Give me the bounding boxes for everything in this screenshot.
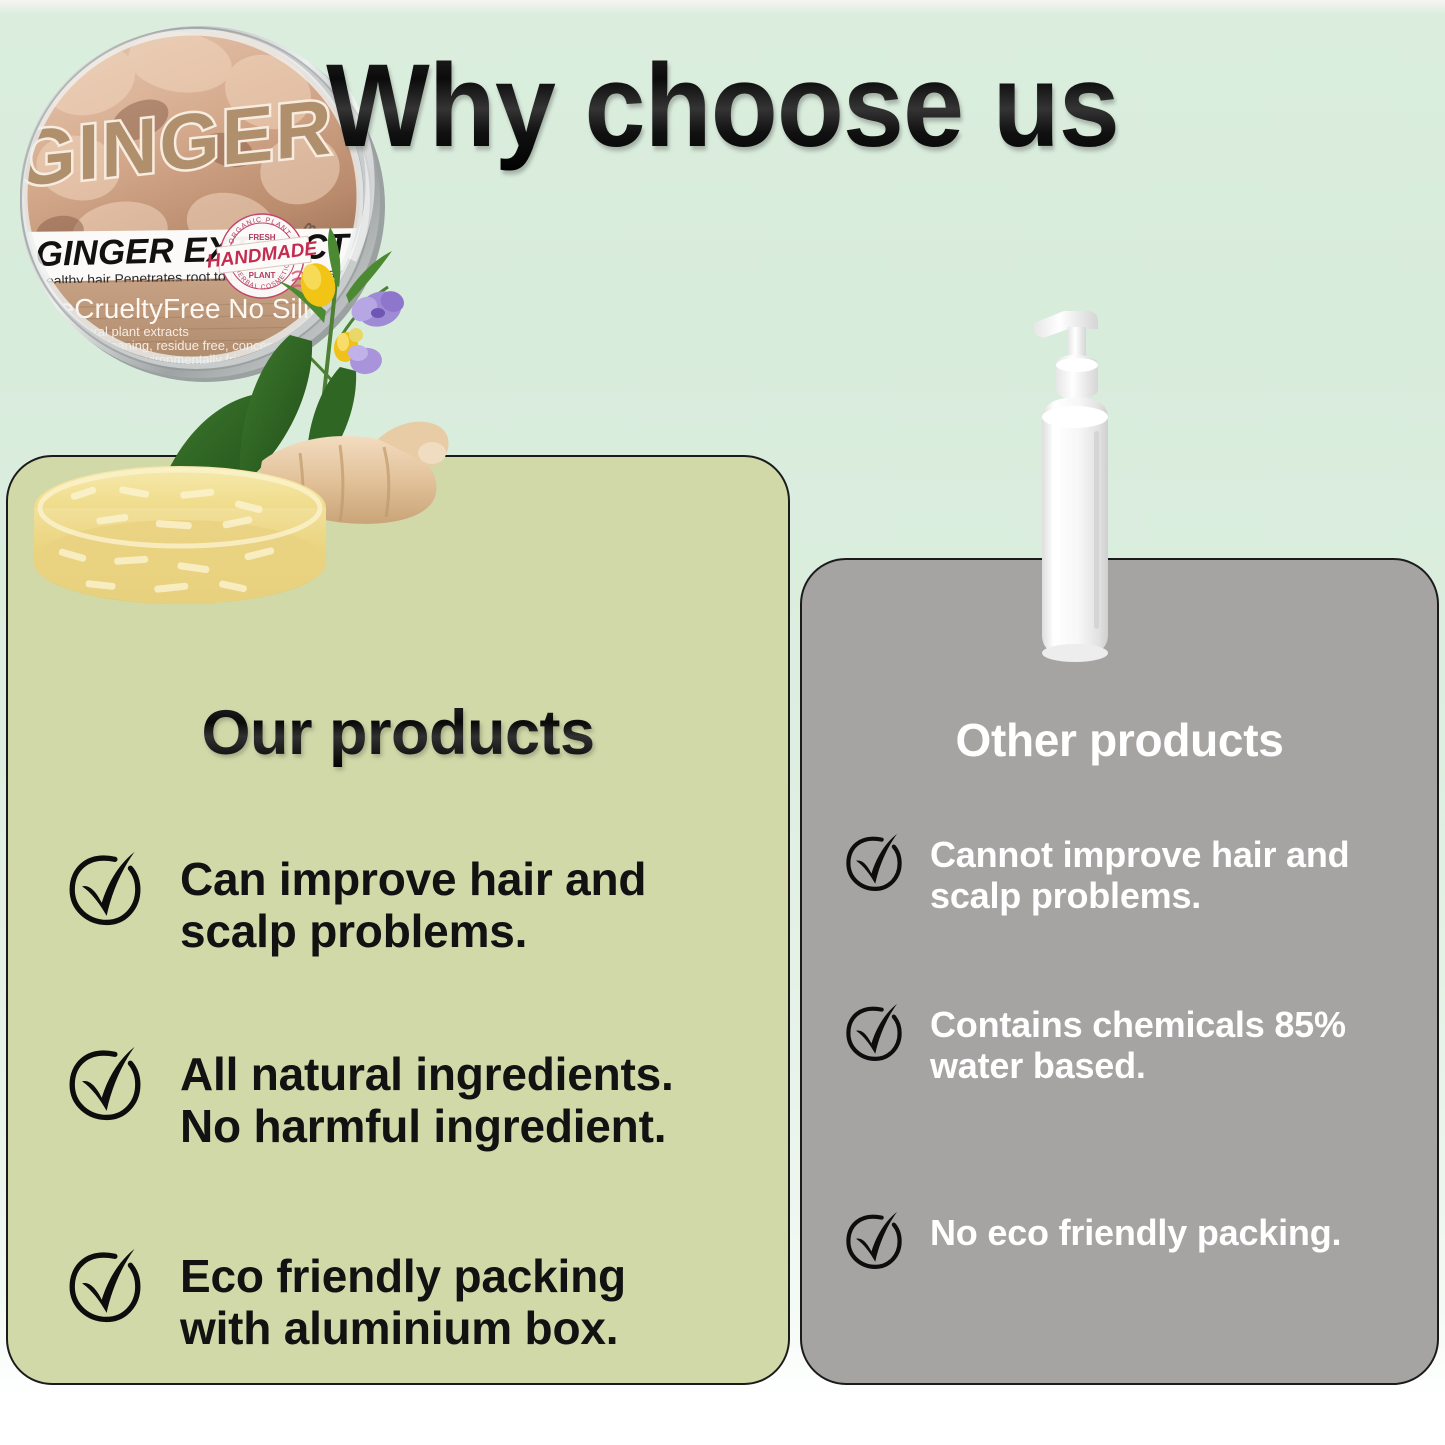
- other-products-heading: Other products: [802, 713, 1437, 767]
- list-item-label: Contains chemicals 85% water based.: [930, 1004, 1346, 1086]
- list-item: All natural ingredients. No harmful ingr…: [64, 1042, 754, 1153]
- list-item-label: Can improve hair and scalp problems.: [180, 853, 646, 958]
- check-circle-icon: [842, 830, 906, 899]
- list-item-label: No eco friendly packing.: [930, 1212, 1341, 1253]
- list-item-label: Eco friendly packing with aluminium box.: [180, 1250, 626, 1355]
- infographic-canvas: Why choose us Our products Can improve h…: [0, 0, 1445, 1445]
- list-item: No eco friendly packing.: [842, 1208, 1442, 1277]
- our-products-heading: Our products: [8, 697, 788, 769]
- check-circle-icon: [842, 1000, 906, 1069]
- list-item-label: All natural ingredients. No harmful ingr…: [180, 1048, 674, 1153]
- check-circle-icon: [842, 1208, 906, 1277]
- list-item: Eco friendly packing with aluminium box.: [64, 1244, 754, 1355]
- check-circle-icon: [64, 1244, 146, 1331]
- list-item: Cannot improve hair and scalp problems.: [842, 830, 1442, 916]
- check-circle-icon: [64, 847, 146, 934]
- page-title: Why choose us: [51, 38, 1395, 174]
- list-item: Can improve hair and scalp problems.: [64, 847, 754, 958]
- list-item-label: Cannot improve hair and scalp problems.: [930, 834, 1349, 916]
- svg-text:PLANT: PLANT: [249, 271, 276, 280]
- our-products-panel: Our products Can improve hair and scalp …: [6, 455, 790, 1385]
- check-circle-icon: [64, 1042, 146, 1129]
- other-products-panel: Other products Cannot improve hair and s…: [800, 558, 1439, 1385]
- list-item: Contains chemicals 85% water based.: [842, 1000, 1442, 1086]
